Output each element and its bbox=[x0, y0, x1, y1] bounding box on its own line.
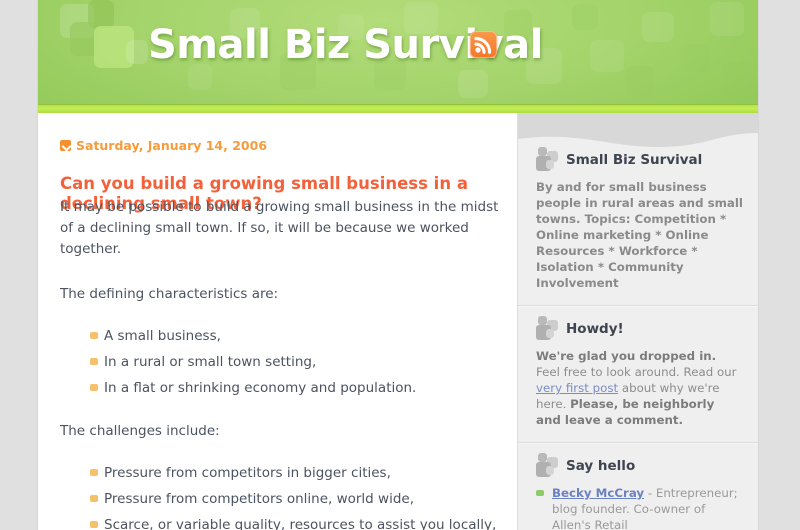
howdy-part-1: We're glad you dropped in. bbox=[536, 349, 716, 363]
banner-square-decoration bbox=[722, 62, 752, 96]
banner-square-decoration bbox=[626, 66, 654, 96]
sidebar: Small Biz Survival By and for small busi… bbox=[517, 113, 758, 530]
content-area: Saturday, January 14, 2006 Can you build… bbox=[38, 113, 758, 530]
banner-square-decoration bbox=[88, 0, 114, 28]
banner-square-decoration bbox=[642, 12, 674, 42]
banner-square-decoration bbox=[70, 22, 98, 56]
sidebar-section-title: Small Biz Survival bbox=[566, 152, 702, 168]
post-lead-paragraph: It may be possible to build a growing sm… bbox=[60, 197, 500, 260]
very-first-post-link[interactable]: very first post bbox=[536, 381, 618, 395]
person-link[interactable]: Becky McCray bbox=[552, 486, 644, 500]
banner-square-decoration bbox=[126, 40, 148, 64]
list-item: Pressure from competitors online, world … bbox=[104, 490, 500, 508]
list-item: Becky McCray - Entrepreneur; blog founde… bbox=[536, 485, 743, 530]
list-item: A small business, bbox=[104, 327, 500, 345]
sidebar-section-say-hello: Say hello Becky McCray - Entrepreneur; b… bbox=[518, 443, 758, 530]
banner-square-decoration bbox=[60, 4, 94, 38]
sidebar-section-title: Say hello bbox=[566, 458, 635, 474]
sidebar-section-about: Small Biz Survival By and for small busi… bbox=[518, 113, 758, 305]
sidebar-about-text: By and for small business people in rura… bbox=[536, 179, 743, 305]
list-item: In a flat or shrinking economy and popul… bbox=[104, 379, 500, 397]
post-date-text: Saturday, January 14, 2006 bbox=[76, 138, 267, 153]
list-item: In a rural or small town setting, bbox=[104, 353, 500, 371]
sidebar-section-header: Say hello bbox=[536, 449, 743, 483]
howdy-part-2: Feel free to look around. Read our bbox=[536, 365, 737, 379]
sidebar-section-title: Howdy! bbox=[566, 321, 624, 337]
banner-square-decoration bbox=[94, 26, 134, 68]
rss-feed-icon[interactable] bbox=[470, 31, 497, 58]
post-date: Saturday, January 14, 2006 bbox=[60, 138, 267, 153]
list-item: Pressure from competitors in bigger citi… bbox=[104, 464, 500, 482]
sidebar-section-header: Small Biz Survival bbox=[536, 143, 743, 177]
banner-square-decoration bbox=[590, 40, 624, 72]
list-item: Scarce, or variable quality, resources t… bbox=[104, 516, 500, 530]
banner-square-decoration bbox=[572, 4, 598, 30]
squares-icon bbox=[536, 453, 560, 479]
squares-icon bbox=[536, 316, 560, 342]
banner-square-decoration bbox=[458, 70, 488, 98]
sidebar-howdy-text: We're glad you dropped in. Feel free to … bbox=[536, 348, 743, 442]
banner-square-decoration bbox=[710, 2, 744, 36]
sidebar-section-howdy: Howdy! We're glad you dropped in. Feel f… bbox=[518, 306, 758, 442]
people-list: Becky McCray - Entrepreneur; blog founde… bbox=[536, 485, 743, 530]
post-body: It may be possible to build a growing sm… bbox=[60, 197, 500, 530]
site-banner: Small Biz Survival bbox=[38, 0, 758, 104]
post-column: Saturday, January 14, 2006 Can you build… bbox=[38, 113, 517, 530]
challenges-list: Pressure from competitors in bigger citi… bbox=[60, 464, 500, 530]
calendar-download-icon bbox=[60, 140, 71, 151]
squares-icon bbox=[536, 147, 560, 173]
characteristics-list: A small business,In a rural or small tow… bbox=[60, 327, 500, 397]
page-container: Small Biz Survival Saturday, January 14,… bbox=[38, 0, 758, 530]
challenges-intro: The challenges include: bbox=[60, 421, 500, 442]
sidebar-section-header: Howdy! bbox=[536, 312, 743, 346]
banner-square-decoration bbox=[684, 44, 710, 72]
characteristics-intro: The defining characteristics are: bbox=[60, 284, 500, 305]
